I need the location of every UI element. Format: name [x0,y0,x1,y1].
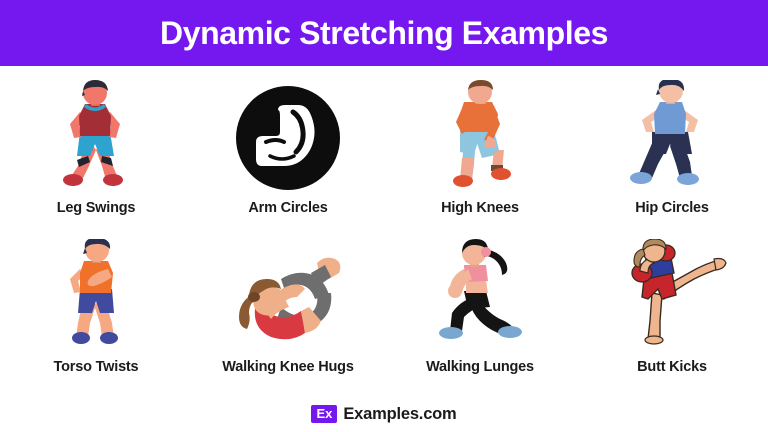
exercise-card-walking-knee-hugs[interactable]: Walking Knee Hugs [192,231,384,390]
page-title: Dynamic Stretching Examples [160,17,608,49]
exercise-label: Arm Circles [248,200,327,216]
exercise-label: Butt Kicks [637,359,707,375]
infographic-page: Dynamic Stretching Examples [0,0,768,432]
examples-logo[interactable]: Ex Examples.com [311,405,456,424]
walking-lunges-figure-illustration [410,239,550,349]
walking-knee-hugs-figure-illustration [218,239,358,349]
exercise-label: Walking Knee Hugs [222,359,353,375]
exercise-card-butt-kicks[interactable]: Butt Kicks [576,231,768,390]
butt-kicks-kickboxer-illustration [602,239,742,349]
torso-twists-figure-illustration [26,239,166,349]
leg-swings-figure-illustration [26,80,166,190]
exercise-card-torso-twists[interactable]: Torso Twists [0,231,192,390]
exercise-grid: Leg Swings Arm Circles [0,72,768,390]
exercise-label: High Knees [441,200,519,216]
exercise-card-walking-lunges[interactable]: Walking Lunges [384,231,576,390]
exercise-label: Torso Twists [54,359,139,375]
logo-badge: Ex [311,405,337,423]
logo-wordmark: Examples.com [343,405,456,424]
exercise-card-high-knees[interactable]: High Knees [384,72,576,231]
page-footer: Ex Examples.com [0,396,768,432]
exercise-card-leg-swings[interactable]: Leg Swings [0,72,192,231]
hip-circles-figure-illustration [602,80,742,190]
flexed-bicep-circle-icon [218,80,358,190]
exercise-label: Hip Circles [635,200,709,216]
exercise-card-arm-circles[interactable]: Arm Circles [192,72,384,231]
high-knees-figure-illustration [410,80,550,190]
exercise-label: Walking Lunges [426,359,534,375]
page-header: Dynamic Stretching Examples [0,0,768,66]
exercise-label: Leg Swings [57,200,136,216]
exercise-card-hip-circles[interactable]: Hip Circles [576,72,768,231]
